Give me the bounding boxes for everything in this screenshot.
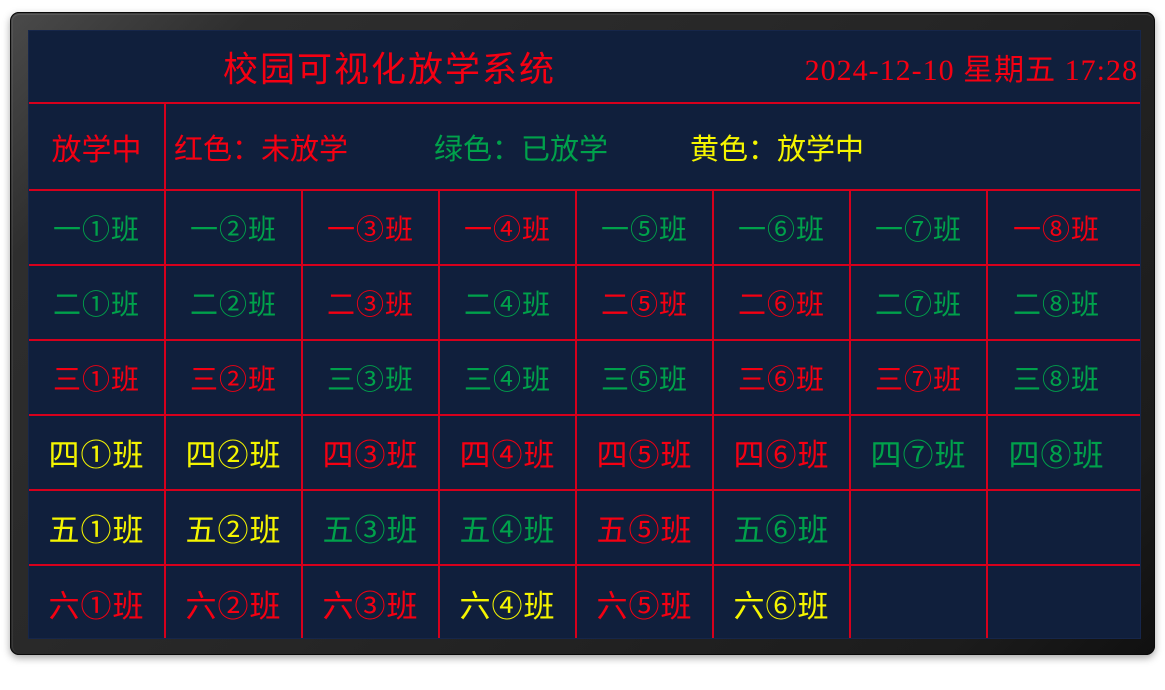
class-cell[interactable]: 四③班 (303, 416, 440, 489)
class-cell[interactable]: 五⑥班 (714, 491, 851, 564)
class-cell[interactable]: 四⑥班 (714, 416, 851, 489)
class-grid: 一①班一②班一③班一④班一⑤班一⑥班一⑦班一⑧班二①班二②班二③班二④班二⑤班二… (29, 191, 1140, 639)
class-cell[interactable]: 五②班 (166, 491, 303, 564)
class-cell[interactable]: 二③班 (303, 266, 440, 339)
legend-item-red: 红色：未放学 (174, 126, 348, 168)
class-cell-empty (851, 491, 988, 564)
grade-row: 一①班一②班一③班一④班一⑤班一⑥班一⑦班一⑧班 (29, 191, 1140, 266)
class-cell[interactable]: 六④班 (440, 566, 577, 639)
class-cell[interactable]: 四①班 (29, 416, 166, 489)
class-cell[interactable]: 三③班 (303, 341, 440, 414)
class-cell[interactable]: 五⑤班 (577, 491, 714, 564)
class-cell[interactable]: 三⑦班 (851, 341, 988, 414)
legend-item-green: 绿色：已放学 (434, 126, 608, 168)
class-cell-empty (988, 491, 1125, 564)
class-cell[interactable]: 二⑤班 (577, 266, 714, 339)
class-cell[interactable]: 五④班 (440, 491, 577, 564)
class-cell[interactable]: 二⑦班 (851, 266, 988, 339)
legend-row: 放学中 红色：未放学 绿色：已放学 黄色：放学中 (29, 104, 1140, 191)
grade-row: 三①班三②班三③班三④班三⑤班三⑥班三⑦班三⑧班 (29, 341, 1140, 416)
class-cell[interactable]: 一②班 (166, 191, 303, 264)
legend-item-yellow: 黄色：放学中 (690, 126, 864, 168)
class-cell[interactable]: 六②班 (166, 566, 303, 639)
class-cell[interactable]: 四②班 (166, 416, 303, 489)
class-cell[interactable]: 四⑧班 (988, 416, 1125, 489)
class-cell[interactable]: 三④班 (440, 341, 577, 414)
class-cell[interactable]: 二⑧班 (988, 266, 1125, 339)
class-cell[interactable]: 一⑥班 (714, 191, 851, 264)
class-cell[interactable]: 一①班 (29, 191, 166, 264)
legend-key-list: 红色：未放学 绿色：已放学 黄色：放学中 (166, 104, 1140, 189)
class-cell-empty (988, 566, 1125, 639)
grade-row: 六①班六②班六③班六④班六⑤班六⑥班 (29, 566, 1140, 639)
class-cell[interactable]: 四④班 (440, 416, 577, 489)
class-cell[interactable]: 三⑤班 (577, 341, 714, 414)
display-screen: 校园可视化放学系统 2024-12-10 星期五 17:28 放学中 红色：未放… (28, 30, 1141, 639)
datetime-display: 2024-12-10 星期五 17:28 (805, 45, 1138, 89)
class-cell[interactable]: 四⑤班 (577, 416, 714, 489)
grade-row: 四①班四②班四③班四④班四⑤班四⑥班四⑦班四⑧班 (29, 416, 1140, 491)
class-cell[interactable]: 四⑦班 (851, 416, 988, 489)
class-cell[interactable]: 一④班 (440, 191, 577, 264)
class-cell[interactable]: 一③班 (303, 191, 440, 264)
class-cell[interactable]: 六⑥班 (714, 566, 851, 639)
class-cell[interactable]: 一⑤班 (577, 191, 714, 264)
class-cell[interactable]: 三②班 (166, 341, 303, 414)
class-cell[interactable]: 三①班 (29, 341, 166, 414)
class-cell[interactable]: 二②班 (166, 266, 303, 339)
class-cell[interactable]: 一⑧班 (988, 191, 1125, 264)
class-cell[interactable]: 六③班 (303, 566, 440, 639)
grade-row: 二①班二②班二③班二④班二⑤班二⑥班二⑦班二⑧班 (29, 266, 1140, 341)
class-cell[interactable]: 六①班 (29, 566, 166, 639)
class-cell[interactable]: 六⑤班 (577, 566, 714, 639)
class-cell[interactable]: 五③班 (303, 491, 440, 564)
class-cell[interactable]: 三⑧班 (988, 341, 1125, 414)
current-status-badge: 放学中 (29, 104, 166, 189)
class-cell[interactable]: 三⑥班 (714, 341, 851, 414)
grade-row: 五①班五②班五③班五④班五⑤班五⑥班 (29, 491, 1140, 566)
class-cell-empty (851, 566, 988, 639)
class-cell[interactable]: 一⑦班 (851, 191, 988, 264)
header: 校园可视化放学系统 2024-12-10 星期五 17:28 (29, 31, 1140, 104)
class-cell[interactable]: 二①班 (29, 266, 166, 339)
class-cell[interactable]: 五①班 (29, 491, 166, 564)
class-cell[interactable]: 二⑥班 (714, 266, 851, 339)
class-cell[interactable]: 二④班 (440, 266, 577, 339)
monitor-bezel: 校园可视化放学系统 2024-12-10 星期五 17:28 放学中 红色：未放… (10, 12, 1155, 655)
